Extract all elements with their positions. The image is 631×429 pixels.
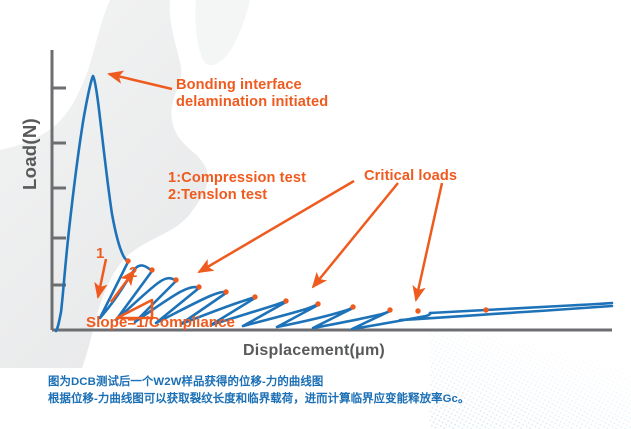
critical-load-dot	[125, 258, 130, 263]
critical-load-dot	[315, 301, 320, 306]
figure-caption: 图为DCB测试后一个W2W样品获得的位移-力的曲线图 根据位移-力曲线图可以获取…	[48, 374, 608, 407]
test-legend-line2: 2:Tenslon test	[168, 187, 267, 203]
compression-marker-label: 1	[96, 245, 104, 262]
critical-load-markers	[125, 258, 488, 313]
test-legend-line1: 1:Compression test	[168, 170, 306, 186]
critical-load-dot	[283, 298, 288, 303]
y-axis-label: Load(N)	[19, 118, 40, 190]
peak-callout-line2: delamination initiated	[176, 94, 328, 110]
critical-load-dot	[173, 277, 178, 282]
compression-arrow	[98, 259, 106, 297]
critical-load-dot	[196, 284, 201, 289]
load-displacement-chart: Load(N) Displacement(μm)	[0, 0, 631, 429]
peak-callout-arrow	[109, 74, 172, 89]
critical-loads-arrow-3	[416, 183, 442, 300]
critical-load-dot	[223, 289, 228, 294]
curve-group	[56, 76, 612, 331]
caption-line-1: 图为DCB测试后一个W2W样品获得的位移-力的曲线图	[48, 374, 608, 391]
annotation-text-group: Bonding interface delamination initiated…	[86, 77, 457, 331]
caption-line-2: 根据位移-力曲线图可以获取裂纹长度和临界载荷，进而计算临界应变能释放率Gc。	[48, 391, 608, 408]
critical-load-dot	[350, 304, 355, 309]
critical-load-dot	[387, 307, 392, 312]
figure-root: Load(N) Displacement(μm)	[0, 0, 631, 429]
slope-label: Slope=1/Compliance	[86, 314, 235, 331]
x-axis-label: Displacement(μm)	[243, 342, 385, 359]
critical-load-dot	[483, 307, 488, 312]
critical-load-dot	[149, 267, 154, 272]
y-axis-ticks	[52, 88, 66, 285]
critical-load-dot	[415, 308, 420, 313]
tension-marker-label: 2	[129, 264, 137, 281]
critical-loads-label: Critical loads	[364, 168, 457, 184]
critical-load-dot	[252, 294, 257, 299]
peak-callout-line1: Bonding interface	[176, 77, 302, 93]
